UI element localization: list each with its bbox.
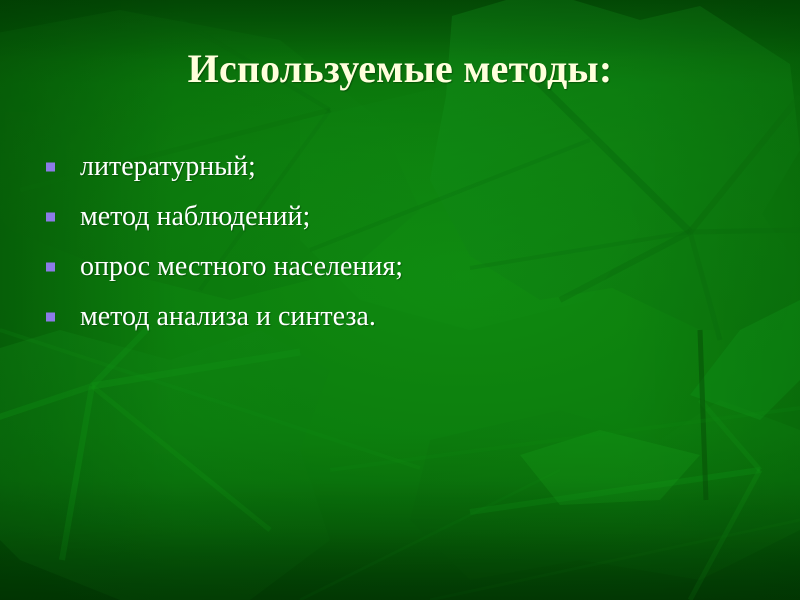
list-item[interactable]: метод анализа и синтеза. [44, 292, 744, 342]
slide-content: Используемые методы: литературный; метод… [0, 0, 800, 600]
presentation-slide: Используемые методы: литературный; метод… [0, 0, 800, 600]
square-bullet-icon [46, 163, 55, 172]
list-item[interactable]: опрос местного населения; [44, 242, 744, 292]
bullet-item-label: метод наблюдений; [80, 203, 310, 231]
square-bullet-icon [46, 263, 55, 272]
bullet-list: литературный; метод наблюдений; опрос ме… [44, 142, 744, 342]
list-item[interactable]: метод наблюдений; [44, 192, 744, 242]
slide-title: Используемые методы: [0, 48, 800, 90]
list-item[interactable]: литературный; [44, 142, 744, 192]
square-bullet-icon [46, 313, 55, 322]
square-bullet-icon [46, 213, 55, 222]
bullet-item-label: литературный; [80, 153, 256, 181]
bullet-item-label: метод анализа и синтеза. [80, 303, 376, 331]
bullet-item-label: опрос местного населения; [80, 253, 403, 281]
